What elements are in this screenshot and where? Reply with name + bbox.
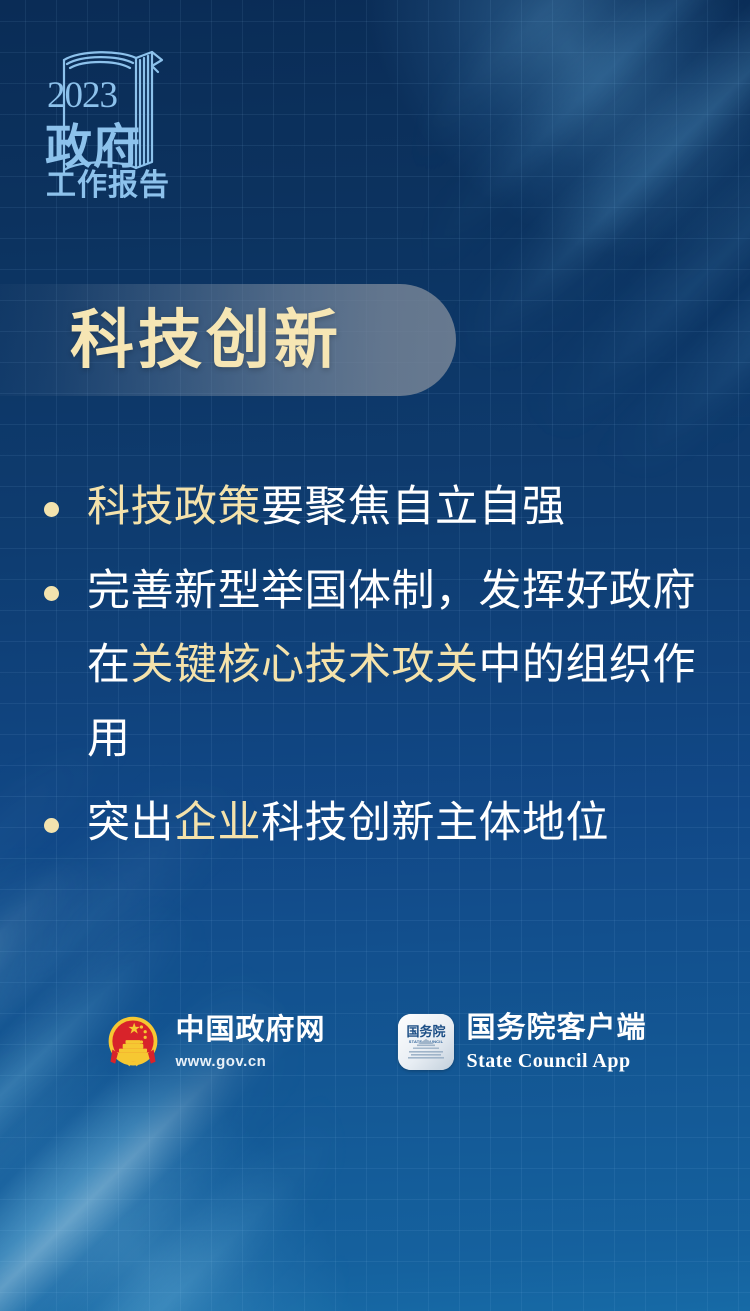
- footer: 中国政府网 www.gov.cn 国务院: [0, 1012, 750, 1072]
- state-council-app-icon: 国务院 STATE COUNCIL: [398, 1014, 454, 1070]
- page-title: 科技创新: [70, 300, 342, 380]
- highlight-text: 科技政策: [87, 483, 261, 531]
- state-council-name-en: State Council App: [467, 1051, 647, 1071]
- highlight-text: 企业: [174, 799, 261, 847]
- plain-text: 要聚焦自立自强: [261, 483, 566, 531]
- bullet-dot-icon: [44, 502, 59, 517]
- plain-text: 突出: [87, 799, 174, 847]
- state-council-app-icon-art: 国务院 STATE COUNCIL: [398, 1014, 454, 1070]
- poster-root: 2023 政府 工作报告 科技创新 科技政策要聚焦自立自强 完善新型举国体制，发…: [0, 0, 750, 1311]
- bullet-dot-icon: [44, 818, 59, 833]
- list-item: 完善新型举国体制，发挥好政府在关键核心技术攻关中的组织作用: [44, 554, 716, 776]
- top-right-glow: [153, 0, 750, 467]
- report-logo: 2023 政府 工作报告: [44, 42, 184, 190]
- list-item: 突出企业科技创新主体地位: [44, 786, 716, 860]
- bottom-left-glow: [0, 851, 550, 1311]
- china-national-emblem-icon: [103, 1012, 163, 1072]
- gov-cn-texts: 中国政府网 www.gov.cn: [175, 1016, 325, 1069]
- list-item: 科技政策要聚焦自立自强: [44, 470, 716, 544]
- highlight-text: 关键核心技术攻关: [131, 641, 479, 689]
- list-item-text: 完善新型举国体制，发挥好政府在关键核心技术攻关中的组织作用: [87, 554, 716, 776]
- bullet-dot-icon: [44, 586, 59, 601]
- gov-cn-branding[interactable]: 中国政府网 www.gov.cn: [103, 1012, 325, 1072]
- list-item-text: 突出企业科技创新主体地位: [87, 786, 716, 860]
- gov-cn-url: www.gov.cn: [175, 1054, 325, 1069]
- state-council-app-branding[interactable]: 国务院 STATE COUNCIL 国务院客户端 State Council A…: [398, 1014, 647, 1071]
- list-item-text: 科技政策要聚焦自立自强: [87, 470, 716, 544]
- bullet-list: 科技政策要聚焦自立自强 完善新型举国体制，发挥好政府在关键核心技术攻关中的组织作…: [44, 470, 716, 870]
- logo-line-work-report: 工作报告: [46, 160, 170, 204]
- svg-text:国务院: 国务院: [406, 1024, 445, 1039]
- state-council-texts: 国务院客户端 State Council App: [467, 1014, 647, 1071]
- plain-text: 科技创新主体地位: [261, 799, 609, 847]
- state-council-name: 国务院客户端: [467, 1014, 647, 1043]
- gov-cn-name: 中国政府网: [175, 1016, 325, 1045]
